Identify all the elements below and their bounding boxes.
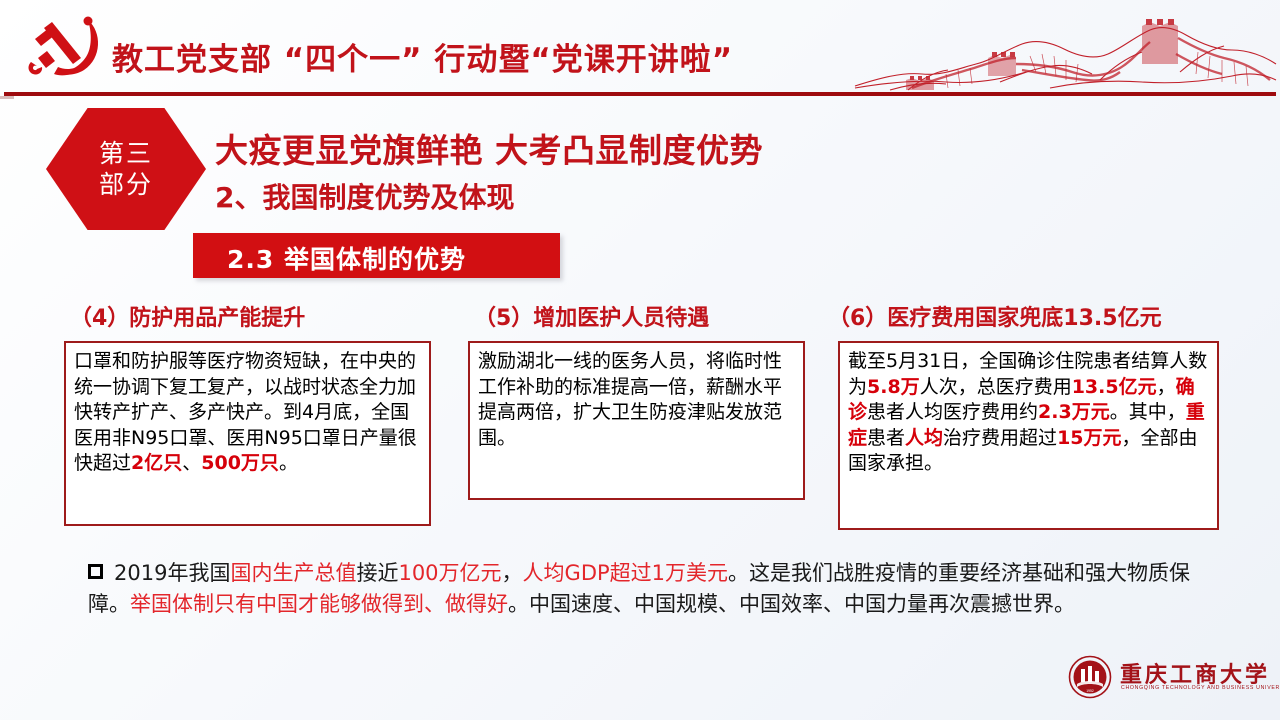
slide: 教工党支部 “四个一” 行动暨“党课开讲啦” [0, 0, 1280, 720]
header-divider [4, 92, 1276, 96]
highlighted-text: 100万亿元 [398, 561, 501, 585]
header-title: 教工党支部 “四个一” 行动暨“党课开讲啦” [112, 34, 733, 79]
body-text: 患者 [867, 427, 905, 449]
body-text: 激励湖北一线的医务人员，将临时性工作补助的标准提高一倍，薪酬水平提高两倍，扩大卫… [478, 350, 782, 449]
column-heading-5: （5）增加医护人员待遇 [474, 300, 709, 332]
highlighted-text: 2.3万元 [1038, 401, 1110, 423]
body-text: 。 [279, 452, 298, 474]
university-name-en: CHONGQING TECHNOLOGY AND BUSINESS UNIVER… [1121, 685, 1280, 691]
highlighted-text: 2亿只 [131, 452, 182, 474]
body-text: 治疗费用超过 [943, 427, 1057, 449]
hollow-square-bullet-icon [88, 564, 103, 579]
section-title-main: 大疫更显党旗鲜艳 大考凸显制度优势 [215, 124, 763, 172]
section-badge: 第三 部分 [46, 108, 206, 230]
body-text: ， [502, 561, 523, 585]
body-text: 接近 [356, 561, 398, 585]
highlighted-text: 500万只 [201, 452, 279, 474]
subsection-banner-label: 2.3 举国体制的优势 [227, 240, 466, 276]
footnote-text: 2019年我国国内生产总值接近100万亿元，人均GDP超过1万美元。这是我们战胜… [88, 561, 1190, 616]
body-text: ， [1157, 376, 1176, 398]
party-hammer-sickle-emblem [18, 12, 110, 86]
university-logo: 1952 重庆工商大学 CHONGQING TECHNOLOGY AND BUS… [1068, 655, 1268, 703]
body-text: 患者人均医疗费用约 [867, 401, 1038, 423]
body-text: 、 [182, 452, 201, 474]
content-box-5: 激励湖北一线的医务人员，将临时性工作补助的标准提高一倍，薪酬水平提高两倍，扩大卫… [468, 341, 805, 500]
footnote-paragraph: 2019年我国国内生产总值接近100万亿元，人均GDP超过1万美元。这是我们战胜… [88, 558, 1208, 620]
column-heading-6: （6）医疗费用国家兜底13.5亿元 [828, 300, 1162, 332]
body-text: 2019年我国 [114, 561, 230, 585]
highlighted-text: 举国体制只有中国才能够做得到、做得好 [130, 592, 508, 616]
badge-line-1: 第三 [99, 138, 153, 169]
slide-header: 教工党支部 “四个一” 行动暨“党课开讲啦” [0, 0, 1280, 96]
content-box-4: 口罩和防护服等医疗物资短缺，在中央的统一协调下复工复产，以战时状态全力加快转产扩… [64, 341, 431, 526]
body-text: 。中国速度、中国规模、中国效率、中国力量再次震撼世界。 [508, 592, 1075, 616]
highlighted-text: 人均 [905, 427, 943, 449]
highlighted-text: 国内生产总值 [230, 561, 356, 585]
hexagon-shape: 第三 部分 [46, 108, 206, 230]
university-logo-mark-icon: 1952 [1068, 655, 1112, 699]
great-wall-illustration [850, 2, 1280, 92]
highlighted-text: 5.8万 [867, 376, 920, 398]
header-divider-tail [0, 96, 14, 99]
body-text: 人次，总医疗费用 [920, 376, 1072, 398]
badge-line-2: 部分 [99, 169, 153, 200]
highlighted-text: 13.5亿元 [1072, 376, 1157, 398]
svg-text:1952: 1952 [1086, 689, 1094, 693]
section-title-sub: 2、我国制度优势及体现 [215, 176, 514, 216]
highlighted-text: 15万元 [1057, 427, 1121, 449]
subsection-banner: 2.3 举国体制的优势 [193, 233, 560, 278]
highlighted-text: 人均GDP超过1万美元 [523, 561, 728, 585]
column-heading-4: （4）防护用品产能提升 [70, 300, 305, 332]
content-box-6: 截至5月31日，全国确诊住院患者结算人数为5.8万人次，总医疗费用13.5亿元，… [838, 341, 1219, 530]
body-text: 。其中， [1110, 401, 1186, 423]
